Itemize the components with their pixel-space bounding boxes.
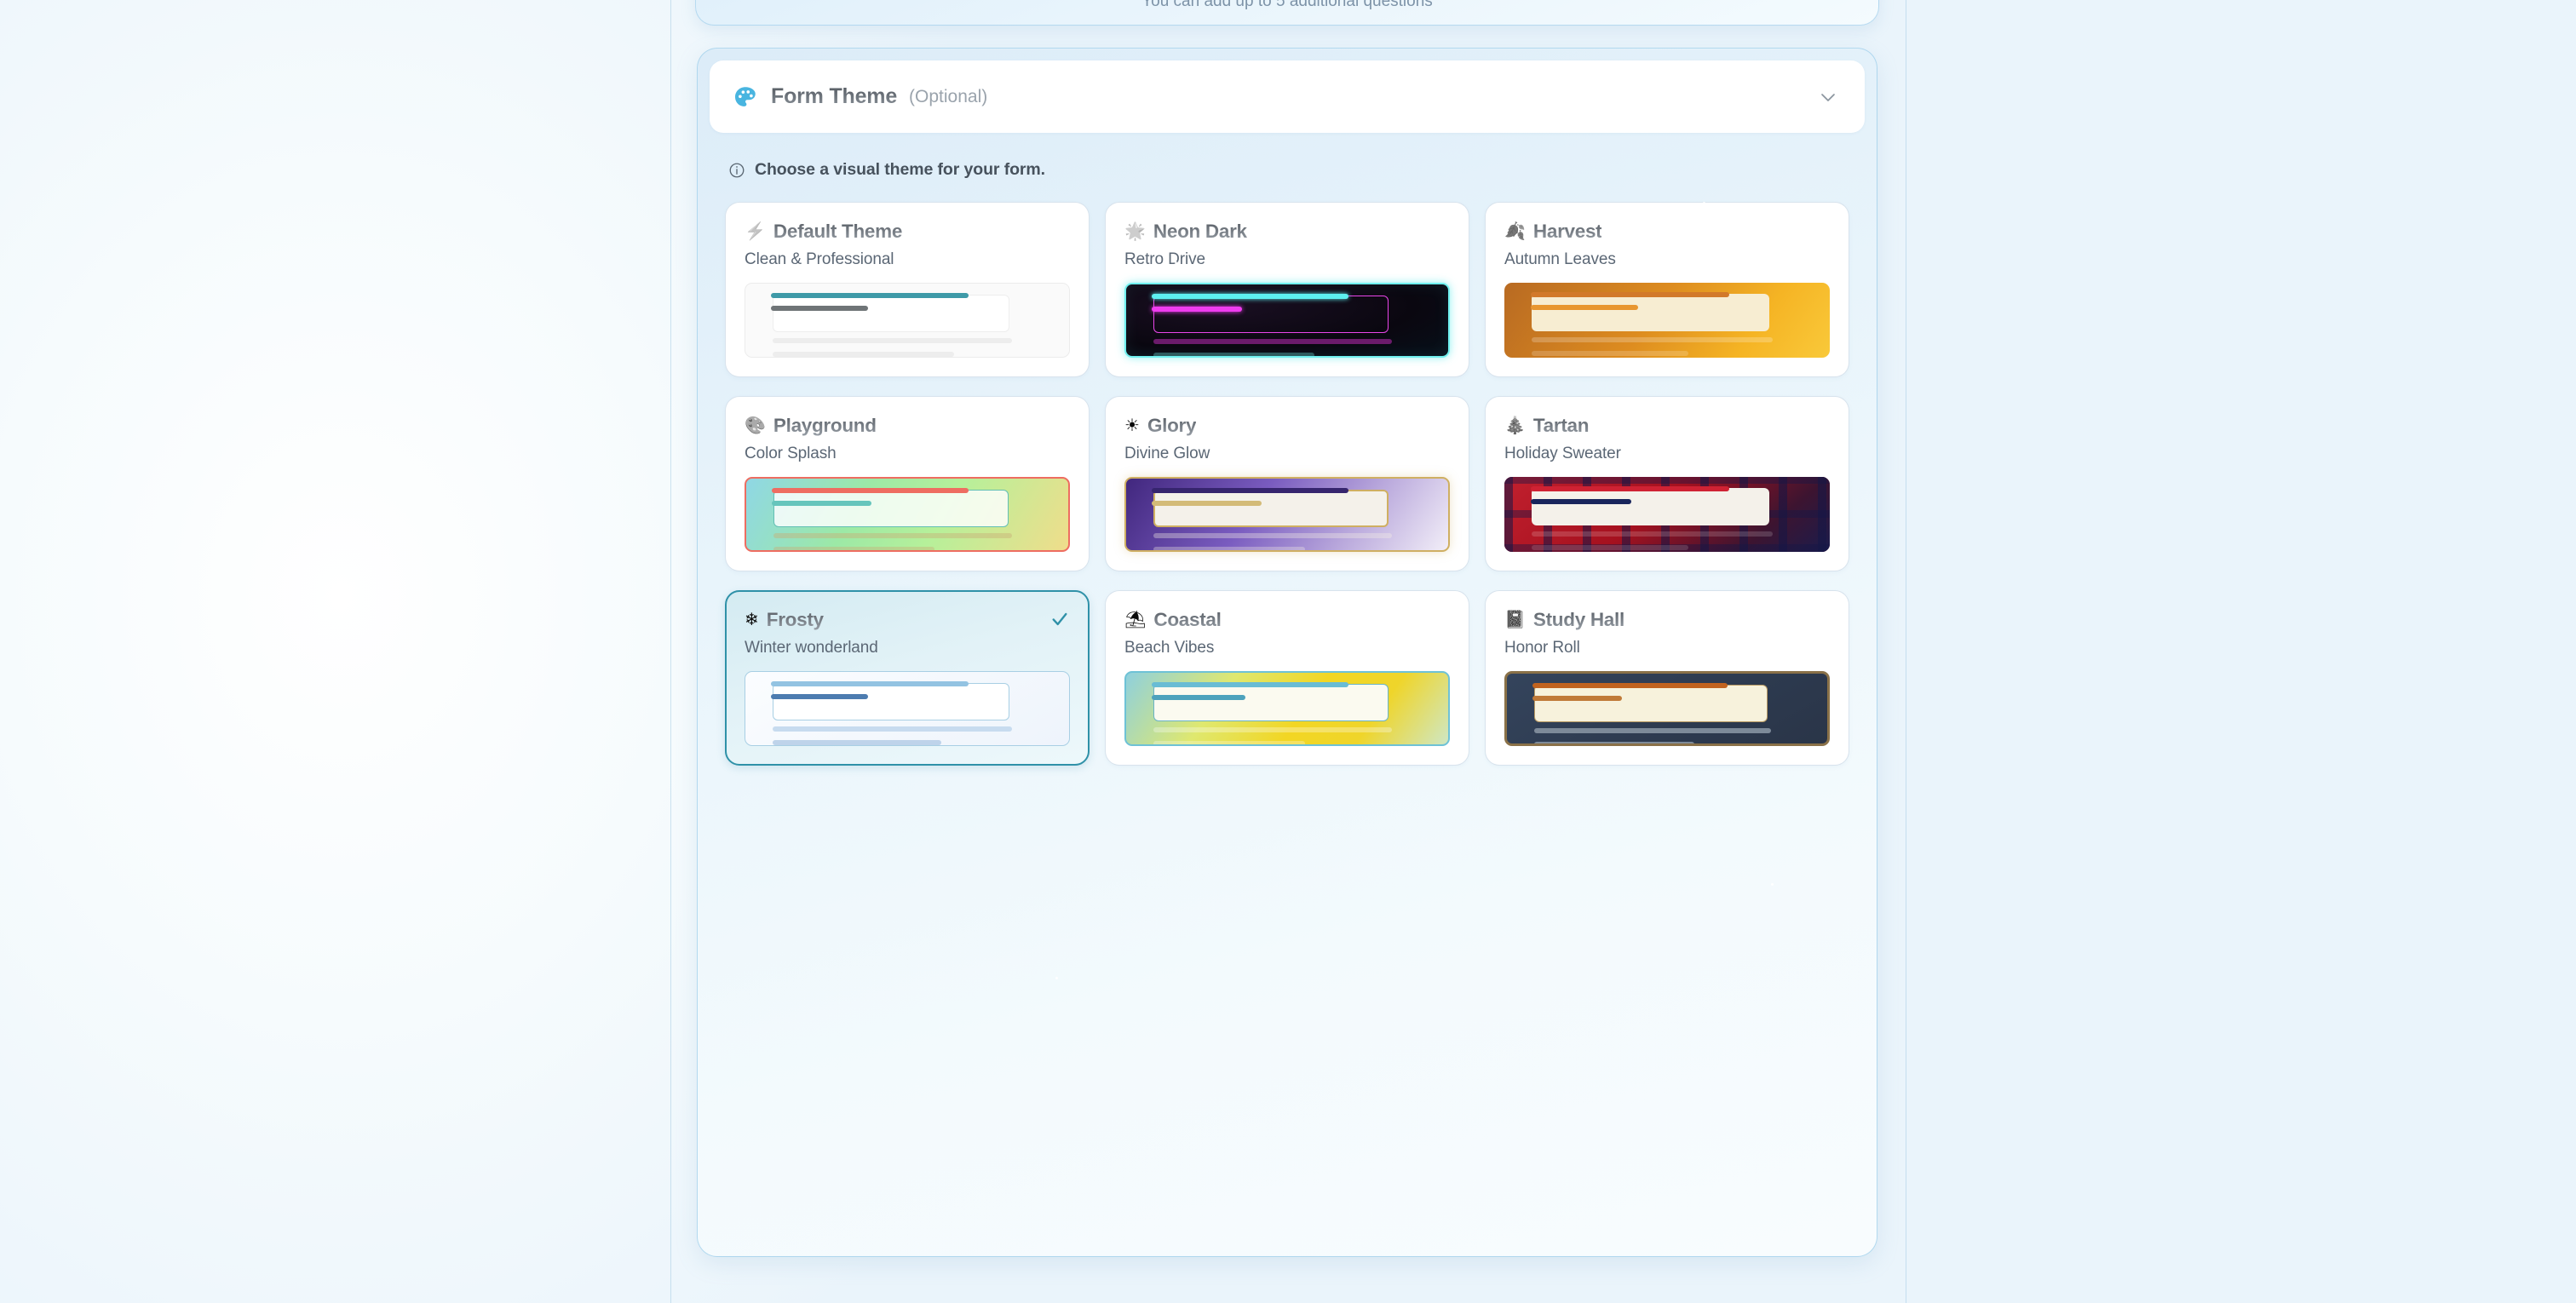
theme-description: Winter wonderland <box>745 639 1070 657</box>
preview-bar <box>1153 547 1305 552</box>
theme-description: Autumn Leaves <box>1504 250 1830 269</box>
preview-bar <box>1534 728 1771 733</box>
preview-bar <box>772 488 969 493</box>
page-right-rail <box>1906 0 1906 1303</box>
sparkle-dot <box>1055 977 1058 979</box>
theme-preview <box>1504 477 1830 552</box>
preview-bar <box>1153 741 1305 746</box>
preview-bar <box>1152 501 1262 506</box>
theme-preview <box>745 283 1070 358</box>
theme-card-title-row: ⚡Default Theme <box>745 221 1070 243</box>
theme-description: Retro Drive <box>1124 250 1450 269</box>
theme-card-neon-dark[interactable]: 🌟Neon DarkRetro Drive <box>1105 202 1469 377</box>
preview-inner-box <box>1534 685 1768 722</box>
preview-bar <box>771 681 969 686</box>
snowflake-icon: ❄ <box>745 611 759 629</box>
theme-card-title-row: 📓Study Hall <box>1504 609 1830 631</box>
preview-bar <box>771 306 868 311</box>
theme-card-harvest[interactable]: 🍂HarvestAutumn Leaves <box>1485 202 1849 377</box>
theme-name: Coastal <box>1153 609 1221 631</box>
beach-umbrella-icon: ⛱ <box>1124 611 1146 629</box>
theme-card-tartan[interactable]: 🎄TartanHoliday Sweater <box>1485 396 1849 571</box>
theme-name: Harvest <box>1533 221 1601 243</box>
theme-card-study-hall[interactable]: 📓Study HallHonor Roll <box>1485 590 1849 766</box>
theme-card-title-row: ☀Glory <box>1124 415 1450 437</box>
preview-bar <box>773 338 1012 343</box>
sun-icon: ☀ <box>1124 417 1140 434</box>
chevron-down-icon[interactable] <box>1817 86 1839 108</box>
theme-help-text: Choose a visual theme for your form. <box>755 160 1045 180</box>
check-icon <box>1050 610 1069 629</box>
preview-inner-box <box>1532 294 1769 331</box>
sparkle-dot <box>1771 883 1774 886</box>
form-theme-panel: Form Theme (Optional) Choose a visual th… <box>697 48 1877 1257</box>
glowing-star-icon: 🌟 <box>1124 223 1146 240</box>
preview-bar <box>1531 499 1631 504</box>
preview-bar <box>1532 545 1688 550</box>
theme-help-row: Choose a visual theme for your form. <box>728 160 1865 180</box>
theme-preview <box>1124 671 1450 746</box>
preview-bar <box>772 501 871 506</box>
preview-bar <box>773 547 934 552</box>
notebook-icon: 📓 <box>1504 611 1526 629</box>
theme-name: Playground <box>773 415 877 437</box>
info-icon <box>728 162 745 179</box>
preview-bar <box>1152 695 1245 700</box>
preview-inner-box <box>1153 490 1389 527</box>
preview-bar <box>1153 533 1392 538</box>
preview-bar <box>1153 727 1392 732</box>
preview-bar <box>771 694 868 699</box>
theme-preview <box>745 477 1070 552</box>
theme-preview <box>745 671 1070 746</box>
preview-bar <box>1153 339 1392 344</box>
theme-name: Study Hall <box>1533 609 1624 631</box>
theme-description: Color Splash <box>745 445 1070 463</box>
theme-name: Neon Dark <box>1153 221 1247 243</box>
preview-bar <box>1531 292 1729 297</box>
theme-preview <box>1124 477 1450 552</box>
preview-bar <box>1532 351 1688 356</box>
preview-bar <box>1531 486 1729 491</box>
previous-section-card: You can add up to 5 additional questions <box>695 0 1879 26</box>
preview-bar <box>771 293 969 298</box>
theme-card-glory[interactable]: ☀GloryDivine Glow <box>1105 396 1469 571</box>
theme-preview <box>1124 283 1450 358</box>
preview-inner-box <box>1532 488 1769 525</box>
preview-bar <box>1153 353 1314 358</box>
preview-bar <box>1532 337 1773 342</box>
fallen-leaf-icon: 🍂 <box>1504 223 1526 240</box>
preview-bar <box>1152 488 1348 493</box>
palette-icon <box>732 83 759 111</box>
preview-bar <box>1531 305 1638 310</box>
artist-palette-icon: 🎨 <box>745 417 766 434</box>
preview-bar <box>1152 307 1242 312</box>
preview-inner-box <box>773 295 1009 332</box>
theme-name: Tartan <box>1533 415 1589 437</box>
theme-card-coastal[interactable]: ⛱CoastalBeach Vibes <box>1105 590 1469 766</box>
theme-card-title-row: 🎨Playground <box>745 415 1070 437</box>
theme-card-title-row: ❄Frosty <box>745 609 1070 631</box>
panel-optional-label: (Optional) <box>909 87 987 107</box>
theme-card-title-row: 🌟Neon Dark <box>1124 221 1450 243</box>
preview-bar <box>1152 682 1348 687</box>
preview-inner-box <box>1153 684 1389 721</box>
lightning-bolt-icon: ⚡ <box>745 223 766 240</box>
previous-section-clipped-text: You can add up to 5 additional questions <box>696 0 1878 11</box>
preview-inner-box <box>773 683 1009 720</box>
panel-title: Form Theme <box>771 84 897 109</box>
preview-bar <box>773 352 954 357</box>
theme-description: Holiday Sweater <box>1504 445 1830 463</box>
theme-name: Glory <box>1147 415 1196 437</box>
theme-grid: ⚡Default ThemeClean & Professional🌟Neon … <box>725 202 1849 766</box>
theme-description: Clean & Professional <box>745 250 1070 269</box>
theme-name: Default Theme <box>773 221 902 243</box>
form-theme-header[interactable]: Form Theme (Optional) <box>710 60 1865 133</box>
preview-bar <box>1532 683 1728 688</box>
theme-description: Beach Vibes <box>1124 639 1450 657</box>
preview-bar <box>1532 696 1622 701</box>
preview-bar <box>773 533 1012 538</box>
christmas-tree-icon: 🎄 <box>1504 417 1526 434</box>
theme-preview <box>1504 283 1830 358</box>
preview-inner-box <box>773 490 1009 527</box>
theme-card-title-row: 🍂Harvest <box>1504 221 1830 243</box>
theme-card-default-theme[interactable]: ⚡Default ThemeClean & Professional <box>725 202 1090 377</box>
theme-card-title-row: 🎄Tartan <box>1504 415 1830 437</box>
preview-bar <box>1152 294 1348 299</box>
theme-description: Divine Glow <box>1124 445 1450 463</box>
preview-bar <box>773 740 941 745</box>
theme-description: Honor Roll <box>1504 639 1830 657</box>
preview-inner-box <box>1153 296 1389 333</box>
theme-name: Frosty <box>767 609 824 631</box>
preview-bar <box>1534 742 1694 746</box>
theme-card-title-row: ⛱Coastal <box>1124 609 1450 631</box>
preview-bar <box>1532 531 1773 537</box>
preview-bar <box>773 726 1012 732</box>
theme-preview <box>1504 671 1830 746</box>
form-builder-column: You can add up to 5 additional questions… <box>671 0 1906 1303</box>
theme-card-frosty[interactable]: ❄FrostyWinter wonderland <box>725 590 1090 766</box>
theme-card-playground[interactable]: 🎨PlaygroundColor Splash <box>725 396 1090 571</box>
